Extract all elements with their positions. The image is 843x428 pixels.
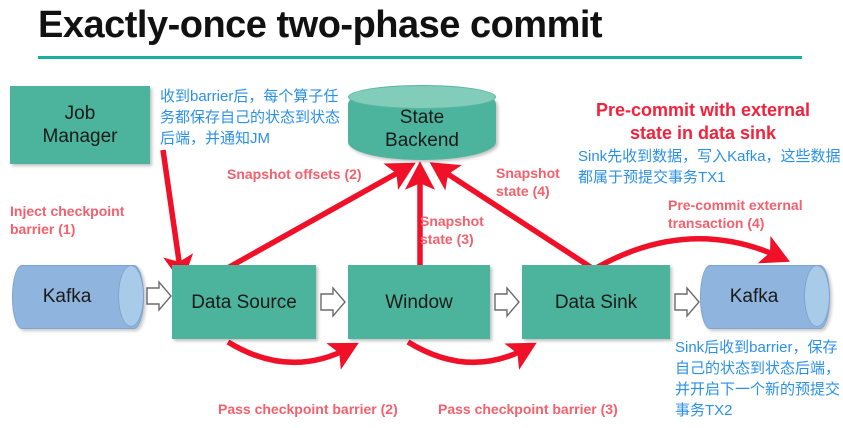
node-data-source[interactable]: Data Source xyxy=(172,265,316,339)
annotation-pass-checkpoint-barrier-3: Pass checkpoint barrier (3) xyxy=(438,400,648,418)
annotation-precommit-cn: Sink先收到数据，写入Kafka，这些数据都属于预提交事务TX1 xyxy=(578,146,843,188)
cylinder-end-cap xyxy=(804,265,830,327)
annotation-pass-checkpoint-barrier-2: Pass checkpoint barrier (2) xyxy=(218,400,428,418)
node-label: Data Source xyxy=(191,291,297,314)
node-window[interactable]: Window xyxy=(348,265,490,339)
node-state-backend[interactable]: State Backend xyxy=(348,86,496,160)
node-kafka-sink[interactable]: Kafka xyxy=(700,265,830,329)
annotation-snapshot-offsets: Snapshot offsets (2) xyxy=(227,165,417,183)
node-label: Kafka xyxy=(13,266,121,328)
flow-arrow-datasource-to-window xyxy=(321,288,345,316)
annotation-inject-checkpoint-barrier: Inject checkpoint barrier (1) xyxy=(10,202,170,238)
annotation-snapshot-state-4: Snapshot state (4) xyxy=(496,164,576,200)
slide-canvas: Exactly-once two-phase commit xyxy=(0,0,843,428)
node-job-manager[interactable]: Job Manager xyxy=(10,86,150,164)
flow-arrow-window-to-datasink xyxy=(495,288,519,316)
annotation-precommit-external-transaction: Pre-commit external transaction (4) xyxy=(668,196,838,232)
page-title: Exactly-once two-phase commit xyxy=(38,2,798,48)
node-kafka-source[interactable]: Kafka xyxy=(12,265,144,329)
annotation-sink-barrier-cn: Sink后收到barrier，保存自己的状态到状态后端，并开启下一个新的预提交事… xyxy=(675,337,843,421)
flow-arrow-datasink-to-kafka xyxy=(675,288,699,316)
node-label: Kafka xyxy=(701,266,807,328)
node-label: Window xyxy=(385,291,453,314)
node-label: Data Sink xyxy=(555,291,637,314)
annotation-operator-snapshot-cn: 收到barrier后，每个算子任务都保存自己的状态到状态后端，并通知JM xyxy=(160,86,350,149)
red-arrow-pass-barrier-2 xyxy=(228,342,351,362)
annotation-snapshot-state-3: Snapshot state (3) xyxy=(420,212,510,248)
red-arrow-precommit-to-kafka xyxy=(596,239,782,268)
node-label: State Backend xyxy=(348,100,496,158)
title-underline xyxy=(38,56,802,59)
annotation-precommit-heading: Pre-commit with external state in data s… xyxy=(570,99,836,145)
red-arrow-pass-barrier-3 xyxy=(408,342,529,362)
flow-arrow-kafka-to-datasource xyxy=(147,282,171,310)
node-data-sink[interactable]: Data Sink xyxy=(522,265,670,339)
node-label: Job Manager xyxy=(43,102,118,148)
cylinder-end-cap xyxy=(118,265,144,327)
